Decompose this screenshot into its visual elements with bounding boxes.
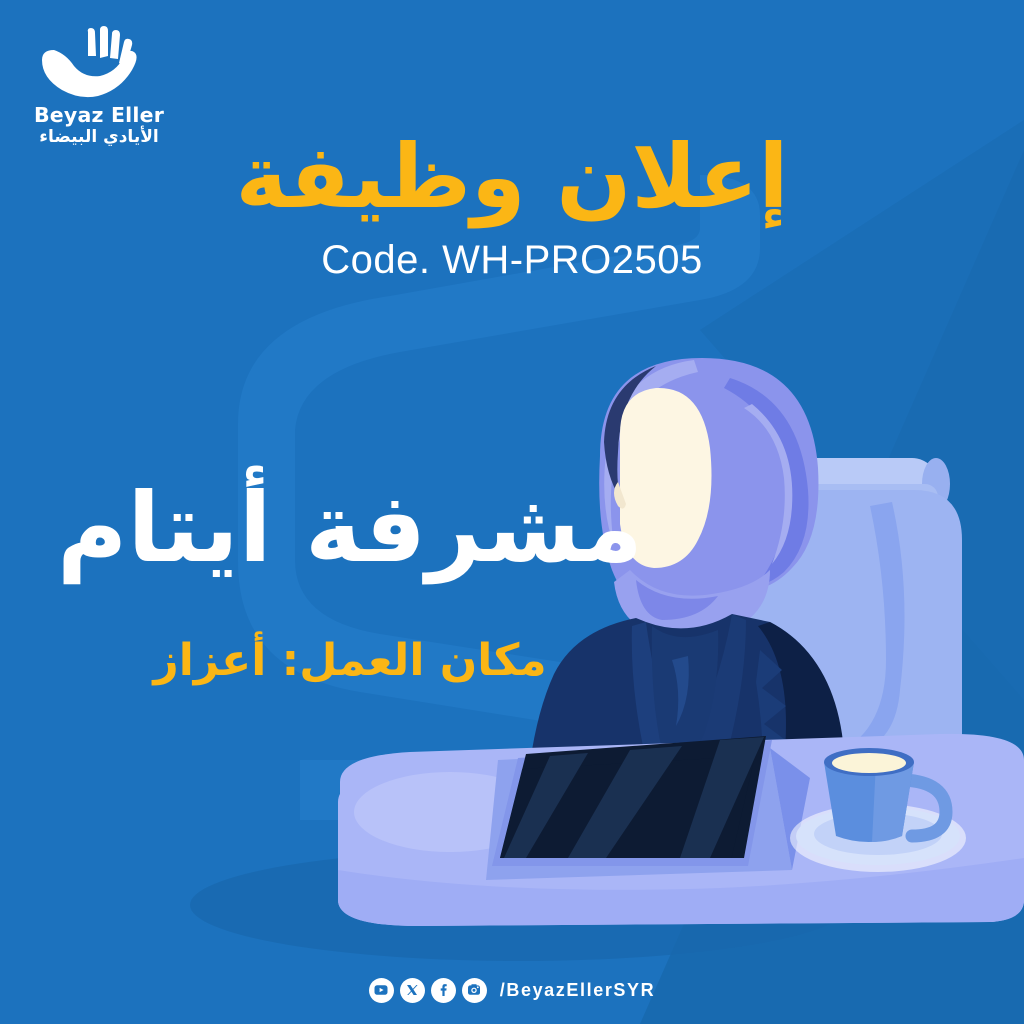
social-handle[interactable]: /BeyazEllerSYR: [500, 980, 655, 1001]
job-title: مشرفة أيتام: [40, 478, 660, 579]
facebook-icon[interactable]: [431, 978, 456, 1003]
brand-logo: Beyaz Eller الأيادي البيضاء: [24, 26, 174, 148]
logo-name-latin: Beyaz Eller: [24, 105, 174, 127]
job-announcement-poster: Beyaz Eller الأيادي البيضاء إعلان وظيفة …: [0, 0, 1024, 1024]
page-title: إعلان وظيفة: [0, 132, 1024, 222]
social-footer-bar: /BeyazEllerSYR: [0, 972, 1024, 1008]
white-hand-dove-icon: [24, 26, 174, 102]
job-info-block: مشرفة أيتام مكان العمل: أعزاز: [40, 478, 660, 686]
headline-block: إعلان وظيفة Code. WH-PRO2505: [0, 132, 1024, 283]
x-twitter-icon[interactable]: [400, 978, 425, 1003]
instagram-icon[interactable]: [462, 978, 487, 1003]
job-code: Code. WH-PRO2505: [0, 238, 1024, 283]
job-location: مكان العمل: أعزاز: [40, 635, 660, 686]
youtube-icon[interactable]: [369, 978, 394, 1003]
